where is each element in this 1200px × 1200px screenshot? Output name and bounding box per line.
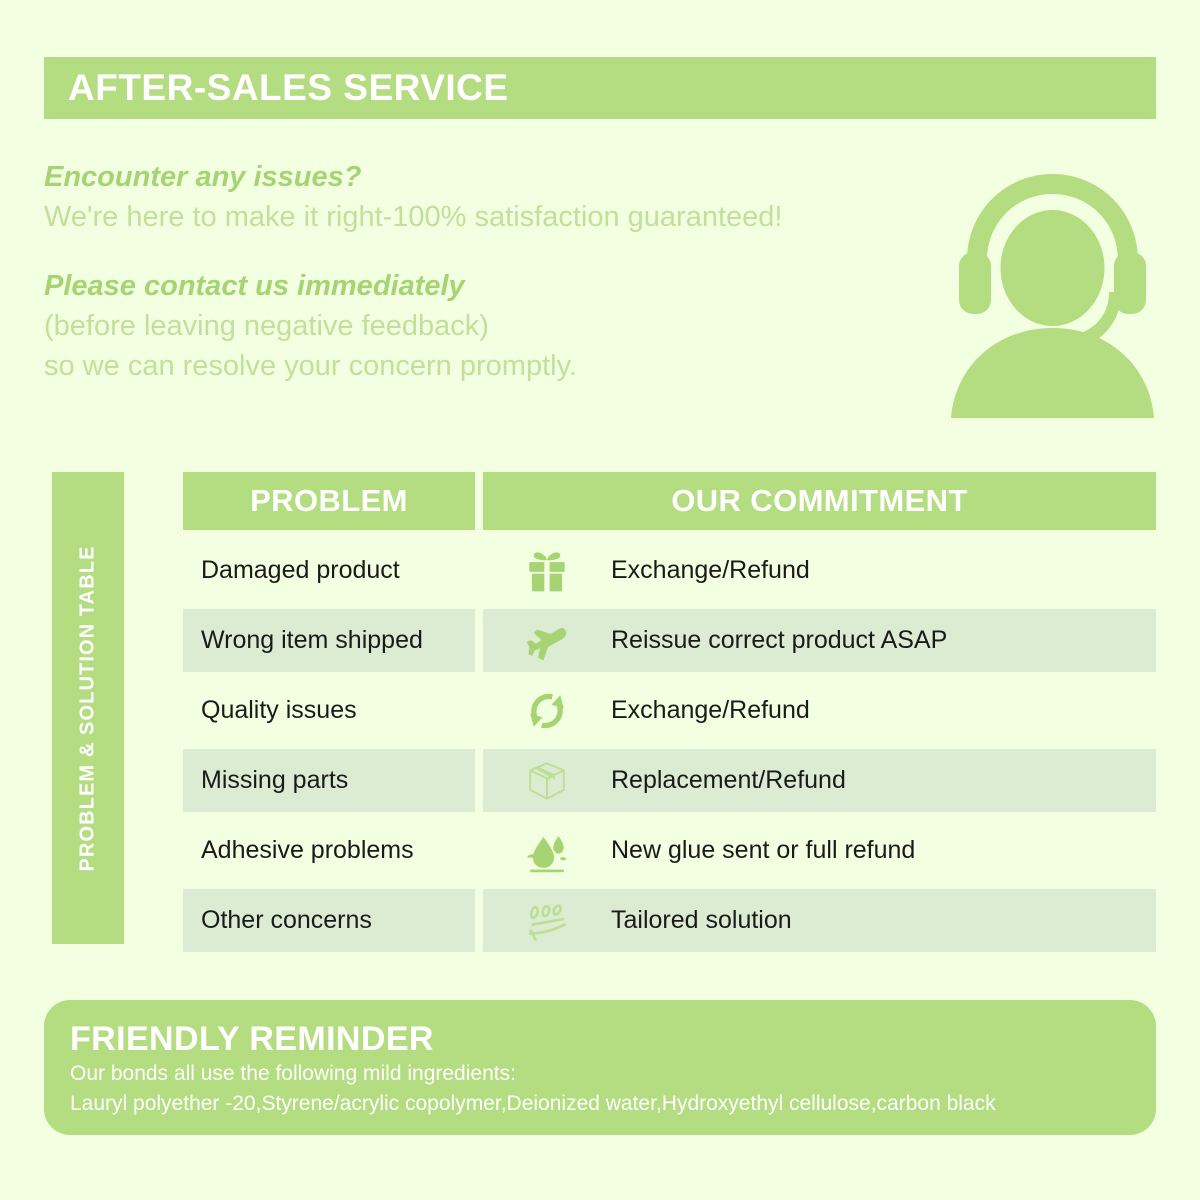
table-row: Damaged product Exchange/Refund <box>183 539 1156 602</box>
row-commitment-text: Replacement/Refund <box>611 766 846 795</box>
row-problem: Damaged product <box>183 539 475 602</box>
recycle-arrows-icon <box>483 688 611 734</box>
table-row: Other concerns Tailored solution <box>183 889 1156 952</box>
row-commitment: Exchange/Refund <box>483 539 1156 602</box>
row-problem: Other concerns <box>183 889 475 952</box>
intro-section: Encounter any issues? We're here to make… <box>44 158 944 386</box>
headset-support-agent-icon <box>945 160 1160 425</box>
reminder-line-1: Our bonds all use the following mild ing… <box>70 1059 1130 1089</box>
intro-heading-1: Encounter any issues? <box>44 158 944 197</box>
airplane-icon <box>483 618 611 664</box>
table-side-label-text: PROBLEM & SOLUTION TABLE <box>77 545 100 871</box>
friendly-reminder-panel: FRIENDLY REMINDER Our bonds all use the … <box>44 1000 1156 1135</box>
row-commitment: Exchange/Refund <box>483 679 1156 742</box>
intro-spacer <box>44 237 944 267</box>
row-commitment-text: Exchange/Refund <box>611 696 810 725</box>
check-scribble-icon <box>483 898 611 944</box>
intro-heading-2: Please contact us immediately <box>44 267 944 306</box>
row-problem: Missing parts <box>183 749 475 812</box>
page-title: AFTER-SALES SERVICE <box>44 67 509 109</box>
row-problem: Adhesive problems <box>183 819 475 882</box>
row-commitment-text: Tailored solution <box>611 906 792 935</box>
intro-line-2: (before leaving negative feedback) <box>44 306 944 346</box>
row-commitment-text: New glue sent or full refund <box>611 836 915 865</box>
reminder-title: FRIENDLY REMINDER <box>70 1020 1130 1059</box>
reminder-line-2: Lauryl polyether -20,Styrene/acrylic cop… <box>70 1089 1130 1119</box>
column-header-problem: PROBLEM <box>183 472 475 530</box>
package-box-icon <box>483 758 611 804</box>
row-commitment-text: Reissue correct product ASAP <box>611 626 947 655</box>
table-row: Adhesive problems New glue sent or full … <box>183 819 1156 882</box>
page-header-band: AFTER-SALES SERVICE <box>44 57 1156 119</box>
table-side-label: PROBLEM & SOLUTION TABLE <box>52 472 124 944</box>
intro-line-1: We're here to make it right-100% satisfa… <box>44 197 944 237</box>
row-commitment: Replacement/Refund <box>483 749 1156 812</box>
intro-line-3: so we can resolve your concern promptly. <box>44 346 944 386</box>
column-header-commitment: OUR COMMITMENT <box>483 472 1156 530</box>
row-commitment: New glue sent or full refund <box>483 819 1156 882</box>
table-row: Wrong item shipped Reissue correct produ… <box>183 609 1156 672</box>
table-header-row: PROBLEM OUR COMMITMENT <box>183 472 1156 530</box>
problem-solution-table: PROBLEM OUR COMMITMENT Damaged product E… <box>183 472 1156 959</box>
table-row: Quality issues Exchange/Refund <box>183 679 1156 742</box>
row-problem: Quality issues <box>183 679 475 742</box>
gift-icon <box>483 548 611 594</box>
row-problem: Wrong item shipped <box>183 609 475 672</box>
glue-droplet-icon <box>483 828 611 874</box>
row-commitment: Reissue correct product ASAP <box>483 609 1156 672</box>
row-commitment: Tailored solution <box>483 889 1156 952</box>
table-row: Missing parts Replacement/Refund <box>183 749 1156 812</box>
row-commitment-text: Exchange/Refund <box>611 556 810 585</box>
